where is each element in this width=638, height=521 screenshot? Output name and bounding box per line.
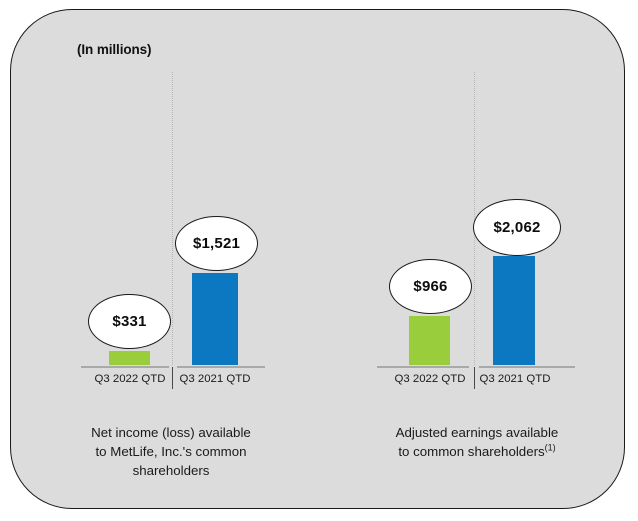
bar-adjusted-earnings-q3-2021 [493,256,535,365]
bar-adjusted-earnings-q3-2022 [409,316,450,365]
bar-net-income-q3-2021 [192,273,238,365]
panel-caption-net-income: Net income (loss) available to MetLife, … [36,423,306,480]
caption-line-1: Net income (loss) available [36,423,306,442]
caption-footnote-marker: (1) [545,443,556,453]
panel-divider-dotted [172,72,173,365]
tick-label-adjusted-earnings-q3-2021: Q3 2021 QTD [461,373,569,385]
caption-line-1: Adjusted earnings available [347,423,607,442]
slide-frame: (In millions) $331 Q3 2022 QTD $1,521 Q3… [10,9,625,509]
tick-label-net-income-q3-2021: Q3 2021 QTD [161,373,269,385]
caption-line-2: to common shareholders(1) [347,442,607,461]
panel-caption-adjusted-earnings: Adjusted earnings available to common sh… [347,423,607,461]
axis-baseline-right [479,366,575,368]
chart-panel-adjusted-earnings: $966 Q3 2022 QTD $2,062 Q3 2021 QTD Adju… [369,10,584,510]
axis-baseline-right [177,366,265,368]
axis-baseline-left [81,366,169,368]
value-callout-net-income-q3-2022: $331 [88,294,171,349]
caption-line-2: to MetLife, Inc.'s common [36,442,306,461]
bar-net-income-q3-2022 [109,351,150,365]
value-callout-net-income-q3-2021: $1,521 [175,216,258,271]
chart-panel-net-income: $331 Q3 2022 QTD $1,521 Q3 2021 QTD Net … [71,10,271,510]
caption-line-3: shareholders [36,461,306,480]
value-callout-adjusted-earnings-q3-2021: $2,062 [473,199,561,256]
axis-baseline-left [377,366,469,368]
value-callout-adjusted-earnings-q3-2022: $966 [389,259,472,314]
caption-line-2-text: to common shareholders [398,444,544,459]
